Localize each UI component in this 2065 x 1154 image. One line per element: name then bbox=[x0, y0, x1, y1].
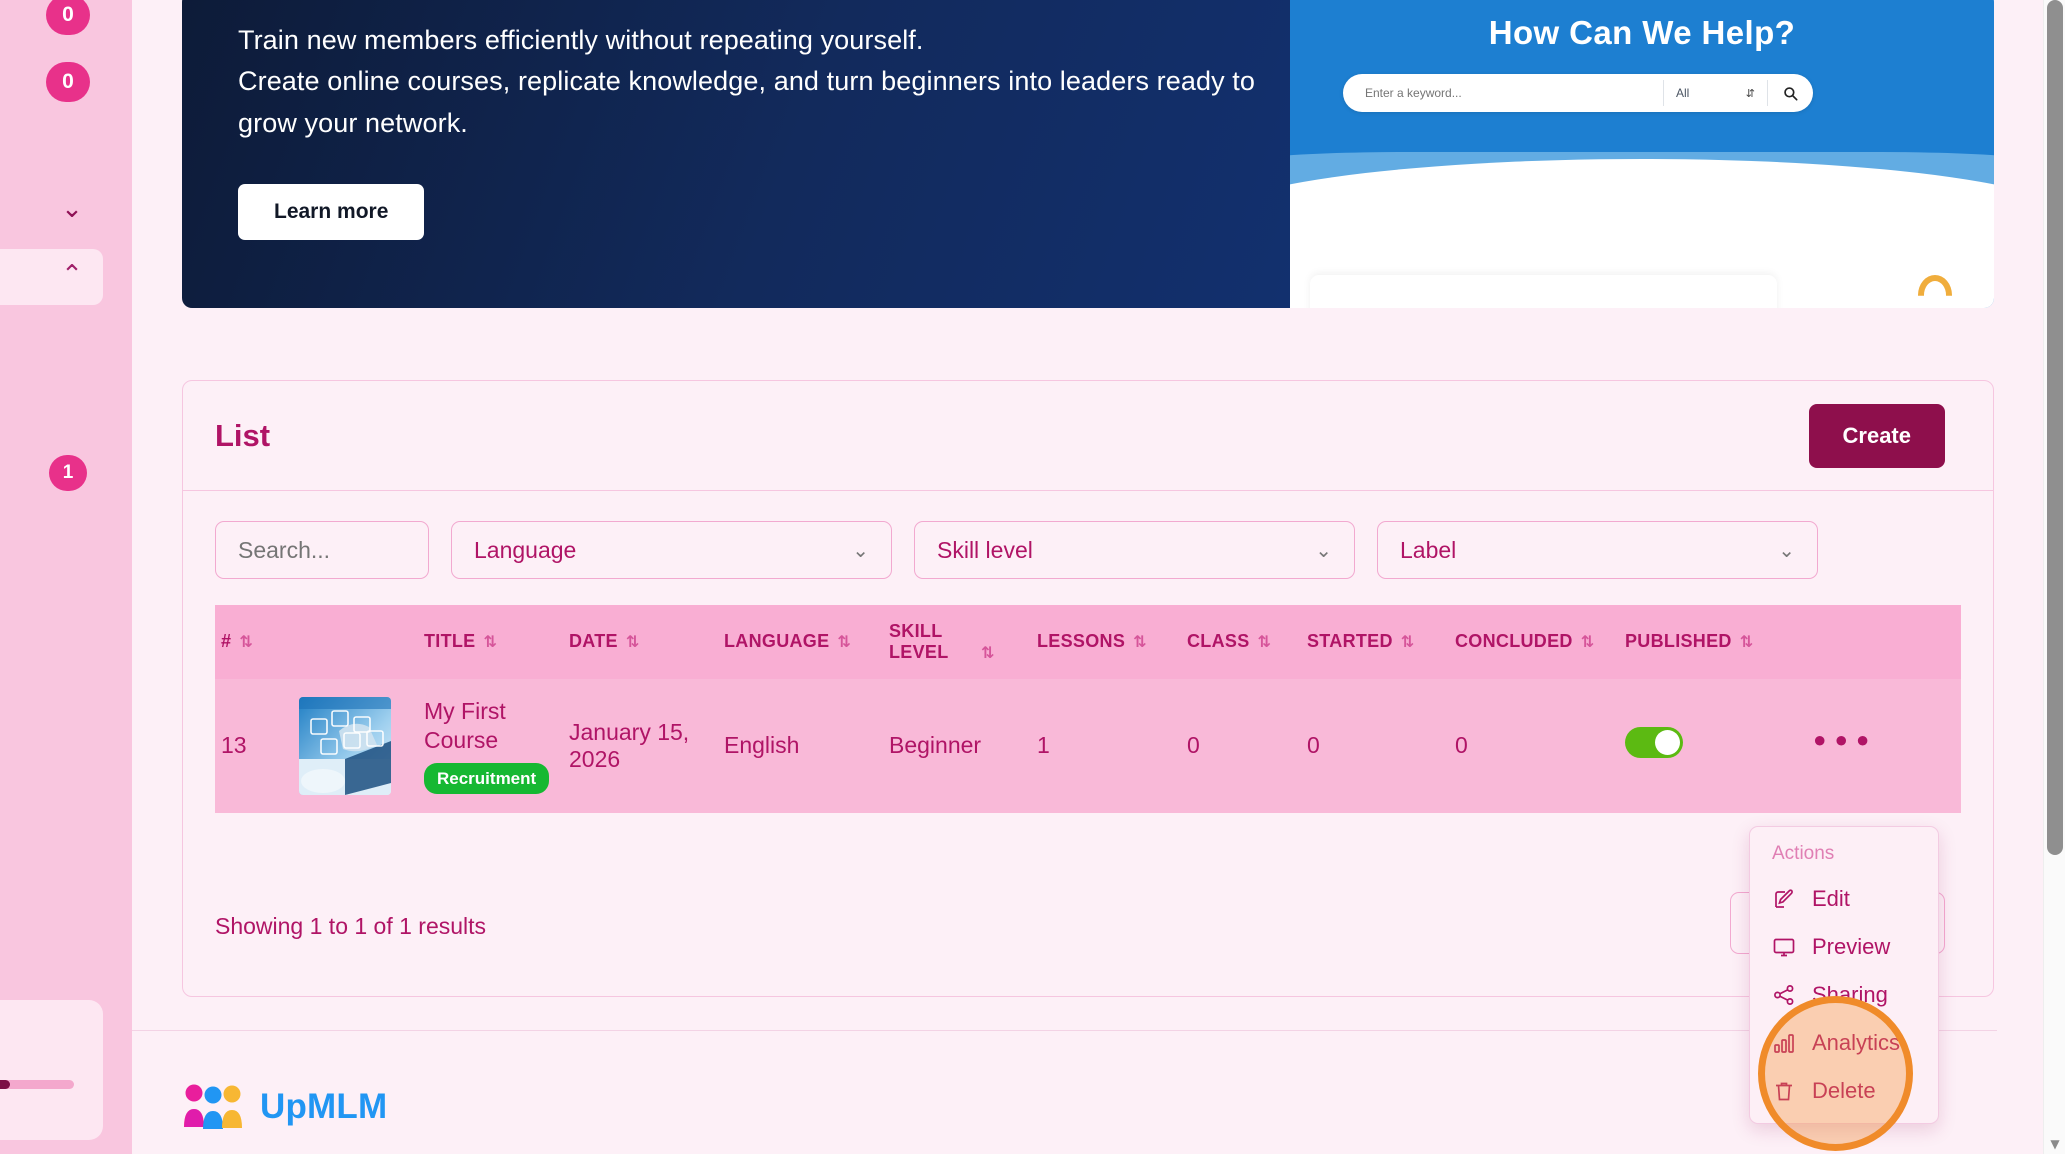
courses-table: #⇅ TITLE⇅ DATE⇅ LANGUAGE⇅ SKILL LEVEL⇅ L… bbox=[215, 605, 1961, 813]
right-rail bbox=[1997, 0, 2043, 1154]
cell-skill-level: Beginner bbox=[883, 679, 1031, 813]
banner-left-panel: Train new members efficiently without re… bbox=[182, 0, 1290, 308]
language-filter-label: Language bbox=[474, 537, 576, 564]
sidebar-badge-2: 0 bbox=[46, 62, 90, 102]
col-published: PUBLISHED⇅ bbox=[1619, 605, 1804, 679]
help-search-scope-select[interactable]: All ⇵ bbox=[1663, 80, 1767, 106]
results-summary: Showing 1 to 1 of 1 results bbox=[215, 913, 486, 940]
learn-more-button[interactable]: Learn more bbox=[238, 184, 424, 240]
help-title: How Can We Help? bbox=[1290, 14, 1994, 52]
col-index: #⇅ bbox=[215, 605, 293, 679]
create-button[interactable]: Create bbox=[1809, 404, 1945, 468]
menu-item-edit-label: Edit bbox=[1812, 886, 1850, 912]
status-badge: Recruitment bbox=[424, 763, 549, 794]
footer-brand-name: UpMLM bbox=[260, 1087, 387, 1127]
sort-icon[interactable]: ⇅ bbox=[1581, 632, 1595, 651]
col-lessons: LESSONS⇅ bbox=[1031, 605, 1181, 679]
menu-item-preview[interactable]: Preview bbox=[1750, 923, 1938, 971]
sidebar-progress-bar bbox=[0, 1080, 74, 1089]
col-language-label: LANGUAGE bbox=[724, 631, 829, 651]
actions-menu-label: Actions bbox=[1750, 837, 1938, 875]
cell-date: January 15, 2026 bbox=[563, 679, 718, 813]
sidebar-chevron-down-icon[interactable]: ⌄ bbox=[56, 200, 88, 220]
col-skill-level-label: SKILL LEVEL bbox=[889, 621, 951, 662]
help-search-input[interactable] bbox=[1343, 86, 1663, 100]
cell-actions: ••• bbox=[1804, 679, 1961, 813]
col-index-label: # bbox=[221, 631, 231, 651]
course-title-link[interactable]: My First Course bbox=[424, 698, 506, 753]
label-filter-label: Label bbox=[1400, 537, 1456, 564]
sort-icon[interactable]: ⇅ bbox=[1740, 632, 1754, 651]
sort-icon[interactable]: ⇅ bbox=[837, 632, 851, 651]
cell-started: 0 bbox=[1301, 679, 1449, 813]
sort-icon[interactable]: ⇅ bbox=[239, 632, 253, 651]
promo-banner: Train new members efficiently without re… bbox=[182, 0, 1994, 308]
help-search-scope-value: All bbox=[1676, 86, 1689, 100]
courses-table-body: 13 bbox=[215, 679, 1961, 813]
col-language: LANGUAGE⇅ bbox=[718, 605, 883, 679]
sort-icon[interactable]: ⇅ bbox=[1258, 632, 1272, 651]
sort-icon[interactable]: ⇅ bbox=[1133, 632, 1147, 651]
upmlm-logo-icon bbox=[182, 1083, 244, 1131]
sidebar-chevron-up-icon[interactable]: ⌃ bbox=[56, 266, 88, 286]
footer: UpMLM bbox=[182, 1060, 1994, 1154]
col-thumbnail bbox=[293, 605, 418, 679]
banner-line-1: Train new members efficiently without re… bbox=[238, 20, 1278, 61]
row-actions-menu: Actions Edit Preview Sharing bbox=[1749, 826, 1939, 1124]
updown-arrows-icon: ⇵ bbox=[1746, 87, 1755, 100]
banner-right-panel: How Can We Help? All ⇵ bbox=[1290, 0, 1994, 308]
cell-thumbnail bbox=[293, 679, 418, 813]
scroll-down-arrow-icon[interactable]: ▼ bbox=[2048, 1140, 2062, 1150]
sort-icon[interactable]: ⇅ bbox=[1401, 632, 1415, 651]
footer-divider bbox=[132, 1030, 1997, 1031]
search-input[interactable] bbox=[238, 537, 406, 564]
pencil-square-icon bbox=[1772, 887, 1796, 911]
menu-item-delete-label: Delete bbox=[1812, 1078, 1876, 1104]
col-concluded-label: CONCLUDED bbox=[1455, 631, 1573, 651]
label-filter[interactable]: Label ⌄ bbox=[1377, 521, 1818, 579]
main-content: Train new members efficiently without re… bbox=[132, 0, 1997, 1154]
skill-level-filter[interactable]: Skill level ⌄ bbox=[914, 521, 1355, 579]
sidebar-badge-3: 1 bbox=[49, 455, 87, 491]
col-started: STARTED⇅ bbox=[1301, 605, 1449, 679]
banner-line-2: Create online courses, replicate knowled… bbox=[238, 61, 1278, 102]
chevron-down-icon: ⌄ bbox=[1778, 538, 1795, 562]
share-nodes-icon bbox=[1772, 983, 1796, 1007]
col-lessons-label: LESSONS bbox=[1037, 631, 1125, 651]
help-search-bar[interactable]: All ⇵ bbox=[1343, 74, 1813, 112]
cell-lessons: 1 bbox=[1031, 679, 1181, 813]
table-row[interactable]: 13 bbox=[215, 679, 1961, 813]
cell-published bbox=[1619, 679, 1804, 813]
col-class-label: CLASS bbox=[1187, 631, 1250, 651]
menu-item-sharing-label: Sharing bbox=[1812, 982, 1888, 1008]
course-thumbnail[interactable] bbox=[299, 697, 391, 795]
sort-icon[interactable]: ⇅ bbox=[981, 643, 995, 662]
course-list-card: List Create Language ⌄ Skill level ⌄ Lab… bbox=[182, 380, 1994, 997]
trash-icon bbox=[1772, 1079, 1796, 1103]
filter-bar: Language ⌄ Skill level ⌄ Label ⌄ bbox=[183, 491, 1993, 579]
cell-language: English bbox=[718, 679, 883, 813]
row-actions-button[interactable]: ••• bbox=[1810, 734, 1874, 751]
cell-class: 0 bbox=[1181, 679, 1301, 813]
bar-chart-icon bbox=[1772, 1031, 1796, 1055]
search-field[interactable] bbox=[215, 521, 429, 579]
menu-item-analytics[interactable]: Analytics bbox=[1750, 1019, 1938, 1067]
help-search-button[interactable] bbox=[1767, 80, 1813, 106]
cell-concluded: 0 bbox=[1449, 679, 1619, 813]
banner-line-3: grow your network. bbox=[238, 103, 1278, 144]
scrollbar-thumb[interactable] bbox=[2047, 0, 2063, 855]
col-class: CLASS⇅ bbox=[1181, 605, 1301, 679]
table-header-row: #⇅ TITLE⇅ DATE⇅ LANGUAGE⇅ SKILL LEVEL⇅ L… bbox=[215, 605, 1961, 679]
col-actions bbox=[1804, 605, 1961, 679]
published-toggle[interactable] bbox=[1625, 727, 1683, 758]
menu-item-analytics-label: Analytics bbox=[1812, 1030, 1900, 1056]
menu-item-preview-label: Preview bbox=[1812, 934, 1890, 960]
col-title-label: TITLE bbox=[424, 631, 476, 651]
language-filter[interactable]: Language ⌄ bbox=[451, 521, 892, 579]
search-icon bbox=[1783, 86, 1798, 101]
sidebar-badge-1: 0 bbox=[46, 0, 90, 35]
col-date-label: DATE bbox=[569, 631, 618, 651]
banner-floating-card bbox=[1310, 275, 1777, 308]
page-title: List bbox=[215, 418, 270, 454]
menu-item-edit[interactable]: Edit bbox=[1750, 875, 1938, 923]
menu-item-sharing[interactable]: Sharing bbox=[1750, 971, 1938, 1019]
col-title: TITLE⇅ bbox=[418, 605, 563, 679]
col-date: DATE⇅ bbox=[563, 605, 718, 679]
monitor-icon bbox=[1772, 935, 1796, 959]
page-scrollbar[interactable]: ▼ bbox=[2043, 0, 2065, 1154]
list-card-header: List Create bbox=[183, 381, 1993, 491]
app-page: 0 0 ⌄ ⌃ 1 Train new members efficiently … bbox=[0, 0, 2065, 1154]
chevron-down-icon: ⌄ bbox=[1315, 538, 1332, 562]
sort-icon[interactable]: ⇅ bbox=[626, 632, 640, 651]
sidebar: 0 0 ⌄ ⌃ 1 bbox=[0, 0, 132, 1154]
col-started-label: STARTED bbox=[1307, 631, 1393, 651]
sort-icon[interactable]: ⇅ bbox=[484, 632, 498, 651]
menu-item-delete[interactable]: Delete bbox=[1750, 1067, 1938, 1115]
skill-level-filter-label: Skill level bbox=[937, 537, 1033, 564]
col-published-label: PUBLISHED bbox=[1625, 631, 1732, 651]
cell-index: 13 bbox=[215, 679, 293, 813]
course-thumbnail-image bbox=[299, 697, 391, 795]
chevron-down-icon: ⌄ bbox=[852, 538, 869, 562]
cell-title: My First Course Recruitment bbox=[418, 679, 563, 813]
courses-table-head: #⇅ TITLE⇅ DATE⇅ LANGUAGE⇅ SKILL LEVEL⇅ L… bbox=[215, 605, 1961, 679]
col-skill-level: SKILL LEVEL⇅ bbox=[883, 605, 1031, 679]
col-concluded: CONCLUDED⇅ bbox=[1449, 605, 1619, 679]
sidebar-progress-card bbox=[0, 1000, 103, 1140]
